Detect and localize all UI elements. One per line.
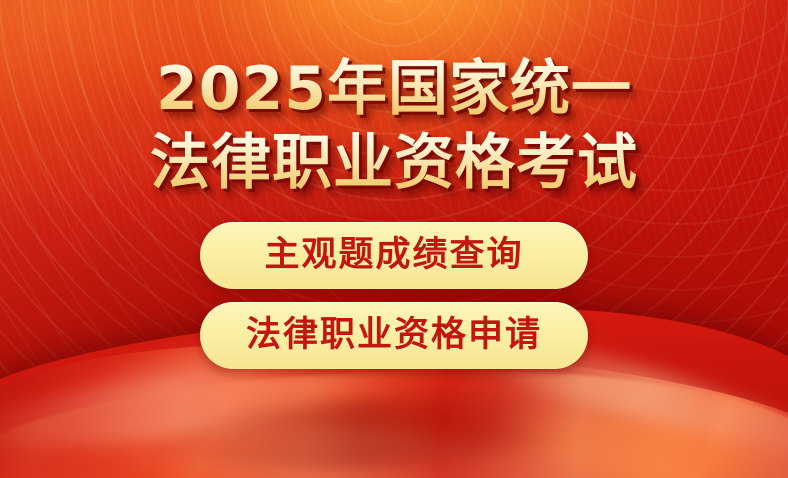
exam-promo-banner: 2025年国家统一 法律职业资格考试 主观题成绩查询 法律职业资格申请 bbox=[0, 0, 788, 478]
subjective-score-query-label: 主观题成绩查询 bbox=[264, 238, 523, 273]
banner-content: 2025年国家统一 法律职业资格考试 主观题成绩查询 法律职业资格申请 bbox=[0, 0, 788, 478]
subjective-score-query-button[interactable]: 主观题成绩查询 bbox=[200, 222, 588, 289]
legal-qualification-application-label: 法律职业资格申请 bbox=[246, 318, 542, 353]
banner-title: 2025年国家统一 法律职业资格考试 bbox=[150, 52, 638, 200]
legal-qualification-application-button[interactable]: 法律职业资格申请 bbox=[200, 302, 588, 369]
title-line-1: 2025年国家统一 bbox=[150, 52, 638, 126]
banner-action-buttons: 主观题成绩查询 法律职业资格申请 bbox=[200, 222, 588, 369]
title-line-2: 法律职业资格考试 bbox=[150, 126, 638, 200]
